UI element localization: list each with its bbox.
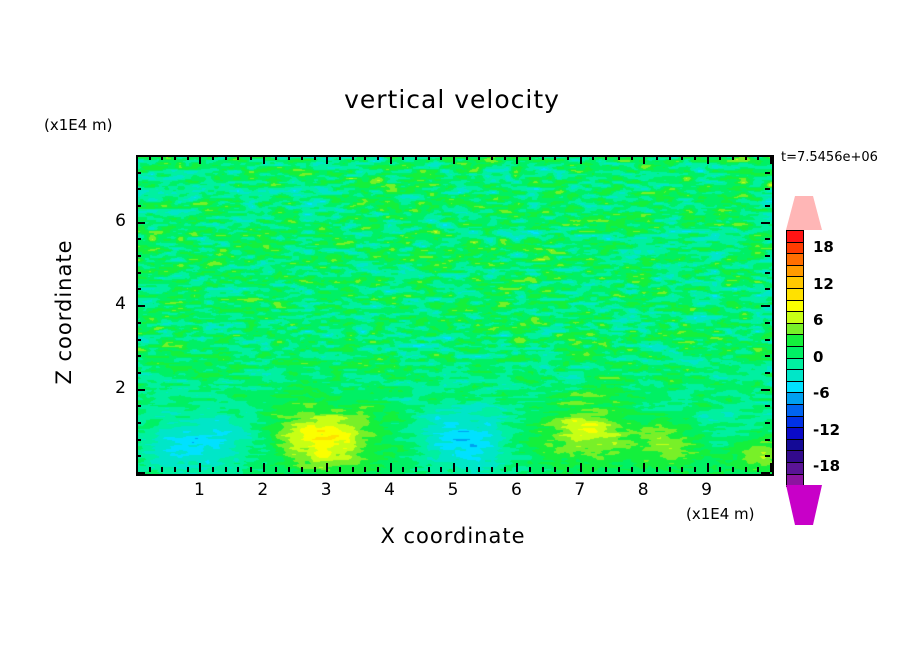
y-axis-minor-tick	[136, 339, 141, 341]
x-axis-major-tick	[199, 463, 201, 472]
x-axis-minor-tick	[504, 467, 506, 472]
y-axis-minor-tick	[765, 422, 770, 424]
x-axis-minor-tick	[288, 155, 290, 160]
y-axis-major-tick	[136, 222, 145, 224]
x-axis-tick-label: 1	[184, 480, 214, 500]
x-axis-minor-tick	[415, 467, 417, 472]
y-axis-minor-tick	[765, 205, 770, 207]
x-axis-major-tick	[707, 463, 709, 472]
colorbar-tick-label: 0	[813, 348, 823, 366]
x-axis-minor-tick	[732, 155, 734, 160]
x-axis-major-tick	[136, 463, 138, 472]
x-axis-minor-tick	[352, 467, 354, 472]
x-axis-minor-tick	[377, 155, 379, 160]
y-axis-minor-tick	[765, 355, 770, 357]
x-axis-minor-tick	[301, 155, 303, 160]
x-axis-minor-tick	[364, 155, 366, 160]
y-axis-minor-tick	[765, 455, 770, 457]
colorbar-over-range-arrow	[786, 196, 822, 230]
x-axis-minor-tick	[187, 155, 189, 160]
timestamp-annotation: t=7.5456e+06	[781, 150, 878, 165]
x-axis-minor-tick	[187, 467, 189, 472]
x-axis-minor-tick	[440, 467, 442, 472]
x-axis-minor-tick	[314, 155, 316, 160]
x-axis-tick-label: 8	[628, 480, 658, 500]
y-axis-minor-tick	[136, 188, 141, 190]
x-axis-minor-tick	[174, 467, 176, 472]
x-axis-minor-tick	[491, 155, 493, 160]
colorbar-under-range-arrow	[786, 485, 822, 525]
x-axis-minor-tick	[466, 155, 468, 160]
colorbar-tick-label: -12	[813, 421, 840, 439]
y-axis-title: Z coordinate	[52, 222, 76, 402]
x-axis-minor-tick	[592, 467, 594, 472]
x-axis-major-tick	[770, 155, 772, 164]
x-axis-tick-label: 2	[248, 480, 278, 500]
y-axis-major-tick	[761, 389, 770, 391]
x-axis-minor-tick	[542, 155, 544, 160]
y-axis-minor-tick	[765, 272, 770, 274]
y-axis-minor-tick	[136, 455, 141, 457]
y-axis-minor-tick	[136, 238, 141, 240]
page-title: vertical velocity	[0, 85, 904, 114]
x-axis-minor-tick	[149, 155, 151, 160]
x-axis-minor-tick	[631, 467, 633, 472]
x-axis-minor-tick	[656, 467, 658, 472]
x-axis-major-tick	[326, 155, 328, 164]
x-axis-minor-tick	[605, 155, 607, 160]
y-axis-major-tick	[136, 472, 145, 474]
x-axis-minor-tick	[212, 467, 214, 472]
x-axis-tick-label: 5	[438, 480, 468, 500]
x-axis-minor-tick	[339, 467, 341, 472]
y-axis-minor-tick	[136, 155, 141, 157]
x-axis-tick-label: 7	[565, 480, 595, 500]
x-axis-minor-tick	[757, 467, 759, 472]
x-axis-tick-label: 4	[375, 480, 405, 500]
x-axis-major-tick	[453, 463, 455, 472]
x-axis-minor-tick	[428, 467, 430, 472]
x-axis-minor-tick	[592, 155, 594, 160]
x-axis-minor-tick	[618, 467, 620, 472]
x-axis-major-tick	[199, 155, 201, 164]
x-axis-minor-tick	[554, 467, 556, 472]
x-axis-minor-tick	[339, 155, 341, 160]
x-axis-tick-label: 9	[692, 480, 722, 500]
x-axis-minor-tick	[275, 467, 277, 472]
y-axis-minor-tick	[136, 422, 141, 424]
x-axis-minor-tick	[212, 155, 214, 160]
x-axis-minor-tick	[719, 467, 721, 472]
x-axis-minor-tick	[275, 155, 277, 160]
x-axis-major-tick	[580, 155, 582, 164]
y-axis-minor-tick	[136, 405, 141, 407]
x-axis-minor-tick	[567, 467, 569, 472]
x-axis-minor-tick	[174, 155, 176, 160]
y-axis-minor-tick	[765, 188, 770, 190]
x-axis-minor-tick	[605, 467, 607, 472]
x-axis-minor-tick	[352, 155, 354, 160]
x-axis-minor-tick	[681, 467, 683, 472]
y-axis-minor-tick	[765, 405, 770, 407]
x-axis-major-tick	[707, 155, 709, 164]
x-axis-minor-tick	[428, 155, 430, 160]
x-axis-title: X coordinate	[136, 524, 770, 548]
x-axis-minor-tick	[618, 155, 620, 160]
x-axis-minor-tick	[161, 155, 163, 160]
colorbar-tick-label: 12	[813, 275, 834, 293]
x-axis-minor-tick	[567, 155, 569, 160]
x-axis-minor-tick	[529, 467, 531, 472]
y-axis-tick-label: 2	[96, 378, 126, 398]
y-axis-major-tick	[761, 305, 770, 307]
x-axis-major-tick	[643, 155, 645, 164]
figure-canvas: vertical velocity (x1E4 m) t=7.5456e+06 …	[0, 0, 904, 654]
y-axis-minor-tick	[136, 205, 141, 207]
x-axis-minor-tick	[631, 155, 633, 160]
y-axis-minor-tick	[136, 255, 141, 257]
x-axis-minor-tick	[719, 155, 721, 160]
y-axis-minor-tick	[765, 238, 770, 240]
y-axis-minor-tick	[136, 355, 141, 357]
y-axis-minor-tick	[765, 255, 770, 257]
x-axis-minor-tick	[669, 155, 671, 160]
x-axis-minor-tick	[402, 467, 404, 472]
x-axis-major-tick	[263, 155, 265, 164]
y-axis-minor-tick	[765, 288, 770, 290]
x-axis-major-tick	[516, 463, 518, 472]
y-axis-major-tick	[136, 305, 145, 307]
x-axis-minor-tick	[314, 467, 316, 472]
colorbar: 181260-6-12-18	[780, 196, 810, 516]
y-axis-tick-label: 6	[96, 211, 126, 231]
y-axis-minor-tick	[136, 439, 141, 441]
x-axis-minor-tick	[301, 467, 303, 472]
x-axis-major-tick	[326, 463, 328, 472]
x-axis-minor-tick	[529, 155, 531, 160]
y-axis-minor-tick	[765, 372, 770, 374]
x-axis-minor-tick	[745, 155, 747, 160]
x-axis-minor-tick	[669, 467, 671, 472]
y-axis-major-tick	[761, 222, 770, 224]
x-axis-minor-tick	[554, 155, 556, 160]
y-axis-minor-tick	[136, 288, 141, 290]
y-axis-major-tick	[136, 389, 145, 391]
x-axis-minor-tick	[225, 155, 227, 160]
x-axis-minor-tick	[415, 155, 417, 160]
x-axis-major-tick	[643, 463, 645, 472]
x-axis-major-tick	[390, 155, 392, 164]
x-axis-minor-tick	[466, 467, 468, 472]
x-axis-minor-tick	[694, 155, 696, 160]
x-axis-minor-tick	[250, 155, 252, 160]
y-axis-minor-tick	[765, 322, 770, 324]
x-axis-tick-label: 3	[311, 480, 341, 500]
x-axis-minor-tick	[745, 467, 747, 472]
x-axis-minor-tick	[656, 155, 658, 160]
x-axis-minor-tick	[250, 467, 252, 472]
x-axis-major-tick	[263, 463, 265, 472]
vertical-velocity-field	[138, 157, 772, 474]
x-axis-minor-tick	[237, 467, 239, 472]
y-axis-tick-label: 4	[96, 294, 126, 314]
y-axis-minor-tick	[136, 322, 141, 324]
x-axis-minor-tick	[364, 467, 366, 472]
x-axis-minor-tick	[225, 467, 227, 472]
colorbar-tick-label: 18	[813, 238, 834, 256]
y-axis-major-tick	[761, 472, 770, 474]
x-axis-minor-tick	[491, 467, 493, 472]
y-axis-unit-label: (x1E4 m)	[44, 116, 113, 134]
y-axis-minor-tick	[765, 172, 770, 174]
y-axis-minor-tick	[765, 439, 770, 441]
x-axis-minor-tick	[504, 155, 506, 160]
colorbar-tick-label: 6	[813, 311, 823, 329]
x-axis-minor-tick	[542, 467, 544, 472]
x-axis-minor-tick	[757, 155, 759, 160]
y-axis-minor-tick	[136, 172, 141, 174]
contour-plot-area	[136, 155, 774, 476]
x-axis-minor-tick	[149, 467, 151, 472]
colorbar-tick-label: -18	[813, 457, 840, 475]
x-axis-minor-tick	[478, 155, 480, 160]
x-axis-major-tick	[516, 155, 518, 164]
x-axis-minor-tick	[440, 155, 442, 160]
x-axis-unit-label: (x1E4 m)	[686, 505, 755, 523]
x-axis-major-tick	[390, 463, 392, 472]
x-axis-minor-tick	[237, 155, 239, 160]
x-axis-major-tick	[770, 463, 772, 472]
x-axis-minor-tick	[402, 155, 404, 160]
y-axis-minor-tick	[136, 372, 141, 374]
x-axis-minor-tick	[161, 467, 163, 472]
x-axis-minor-tick	[694, 467, 696, 472]
x-axis-minor-tick	[681, 155, 683, 160]
x-axis-minor-tick	[732, 467, 734, 472]
x-axis-major-tick	[580, 463, 582, 472]
x-axis-major-tick	[453, 155, 455, 164]
x-axis-minor-tick	[478, 467, 480, 472]
y-axis-minor-tick	[765, 339, 770, 341]
y-axis-minor-tick	[765, 155, 770, 157]
y-axis-minor-tick	[136, 272, 141, 274]
x-axis-minor-tick	[288, 467, 290, 472]
x-axis-minor-tick	[377, 467, 379, 472]
colorbar-tick-label: -6	[813, 384, 830, 402]
x-axis-tick-label: 6	[501, 480, 531, 500]
